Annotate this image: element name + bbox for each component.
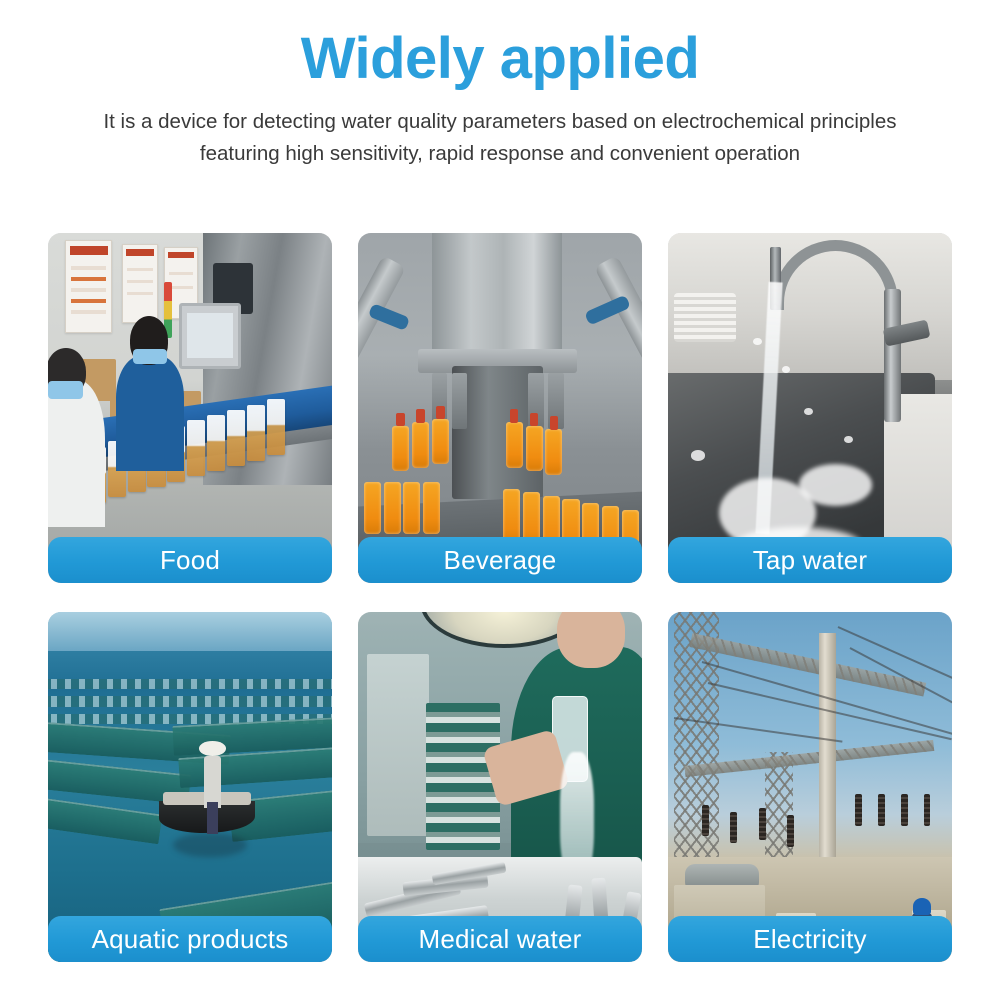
subtitle-line-2: featuring high sensitivity, rapid respon… [22,138,978,170]
page-title: Widely applied [0,0,1000,88]
card-label-aquatic-products: Aquatic products [48,916,332,962]
page-subtitle: It is a device for detecting water quali… [0,88,1000,170]
card-label-food: Food [48,537,332,583]
application-card-beverage[interactable]: Beverage [358,233,642,583]
application-card-tap-water[interactable]: Tap water [668,233,952,583]
application-card-electricity[interactable]: Electricity [668,612,952,962]
card-label-tap-water: Tap water [668,537,952,583]
application-card-medical-water[interactable]: Medical water [358,612,642,962]
subtitle-line-1: It is a device for detecting water quali… [22,106,978,138]
aquaculture-fish-farm-photo [48,612,332,962]
electrical-substation-photo [668,612,952,962]
beverage-bottling-machine-photo [358,233,642,583]
medical-instrument-rinsing-photo [358,612,642,962]
tap-water-faucet-photo [668,233,952,583]
card-label-electricity: Electricity [668,916,952,962]
application-card-aquatic-products[interactable]: Aquatic products [48,612,332,962]
card-label-medical-water: Medical water [358,916,642,962]
card-label-beverage: Beverage [358,537,642,583]
food-factory-packaging-line-photo [48,233,332,583]
application-card-food[interactable]: Food [48,233,332,583]
application-card-grid: Food [48,233,952,962]
